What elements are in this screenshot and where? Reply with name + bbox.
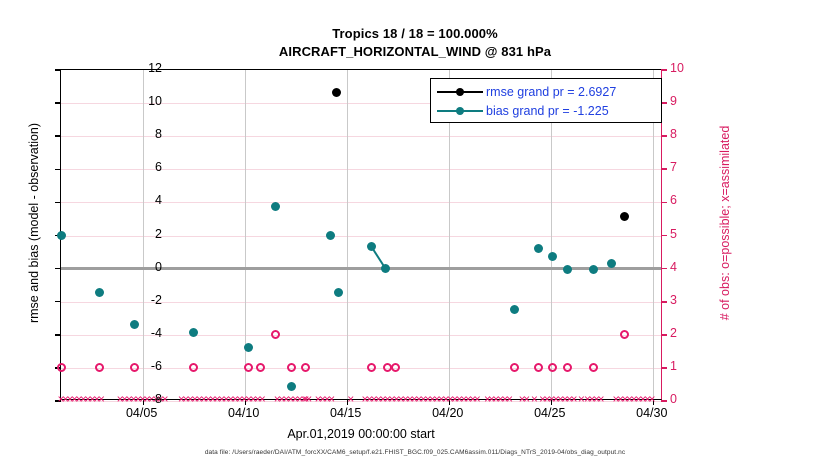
ticklabel-bottom: 04/30 (622, 406, 682, 420)
tick-right (661, 268, 667, 270)
bias-point (534, 244, 543, 253)
ticklabel-right: 4 (670, 260, 704, 274)
bias-point (548, 252, 557, 261)
bias-point (367, 242, 376, 251)
obs-possible-marker (189, 363, 198, 372)
obs-possible-marker (244, 363, 253, 372)
rmse-point (620, 212, 629, 221)
obs-assimilated-marker (327, 397, 336, 406)
bias-point (589, 265, 598, 274)
obs-assimilated-marker (483, 397, 492, 406)
tick-left (55, 69, 61, 71)
rmse-point (332, 88, 341, 97)
x-axis-label: Apr.01,2019 00:00:00 start (0, 427, 722, 441)
ticklabel-right: 10 (670, 61, 704, 75)
obs-possible-marker (57, 363, 66, 372)
tick-left (55, 102, 61, 104)
ticklabel-right: 0 (670, 392, 704, 406)
ticklabel-bottom: 04/10 (214, 406, 274, 420)
obs-possible-marker (367, 363, 376, 372)
data-file-footer: data file: /Users/raeder/DAI/ATM_forcXX/… (0, 449, 830, 456)
ticklabel-left: -8 (120, 392, 162, 406)
chart-legend: rmse grand pr = 2.6927 bias grand pr = -… (430, 78, 662, 123)
tick-left (55, 334, 61, 336)
bias-point (510, 305, 519, 314)
obs-possible-marker (589, 363, 598, 372)
ticklabel-left: -4 (120, 326, 162, 340)
y-axis-right-label: # of obs: o=possible; x=assimilated (718, 53, 732, 393)
ticklabel-left: -6 (120, 359, 162, 373)
tick-left (55, 135, 61, 137)
chart-title-line1: Tropics 18 / 18 = 100.000% (0, 26, 830, 41)
obs-assimilated-marker (647, 397, 656, 406)
obs-assimilated-marker (346, 397, 355, 406)
bias-point (287, 382, 296, 391)
bias-point (95, 288, 104, 297)
ticklabel-right: 6 (670, 193, 704, 207)
ticklabel-left: 4 (120, 193, 162, 207)
bias-point (189, 328, 198, 337)
gridline-v (347, 70, 348, 399)
obs-assimilated-marker (530, 397, 539, 406)
legend-swatch-bias (437, 105, 483, 117)
obs-possible-marker (563, 363, 572, 372)
legend-label-bias: bias grand pr = -1.225 (483, 104, 609, 118)
ticklabel-left: 10 (120, 94, 162, 108)
bias-point (57, 231, 66, 240)
figure-canvas: Tropics 18 / 18 = 100.000% AIRCRAFT_HORI… (0, 0, 830, 470)
tick-left (55, 202, 61, 204)
ticklabel-right: 9 (670, 94, 704, 108)
tick-left (55, 169, 61, 171)
ticklabel-left: 0 (120, 260, 162, 274)
obs-assimilated-marker (473, 397, 482, 406)
obs-assimilated-marker (505, 397, 514, 406)
ticklabel-right: 8 (670, 127, 704, 141)
legend-swatch-rmse (437, 86, 483, 98)
ticklabel-right: 5 (670, 227, 704, 241)
obs-possible-marker (95, 363, 104, 372)
bias-point (563, 265, 572, 274)
obs-possible-marker (256, 363, 265, 372)
legend-label-rmse: rmse grand pr = 2.6927 (483, 85, 616, 99)
obs-possible-marker (534, 363, 543, 372)
obs-possible-marker (510, 363, 519, 372)
chart-title-line2: AIRCRAFT_HORIZONTAL_WIND @ 831 hPa (0, 44, 830, 59)
tick-right (661, 135, 667, 137)
obs-possible-marker (620, 330, 629, 339)
legend-item-rmse[interactable]: rmse grand pr = 2.6927 (437, 82, 655, 101)
tick-right (661, 400, 667, 402)
bias-point (334, 288, 343, 297)
ticklabel-bottom: 04/05 (112, 406, 172, 420)
obs-assimilated-marker (301, 397, 310, 406)
ticklabel-bottom: 04/20 (418, 406, 478, 420)
tick-right (661, 301, 667, 303)
obs-possible-marker (287, 363, 296, 372)
obs-possible-marker (271, 330, 280, 339)
tick-right (661, 367, 667, 369)
ticklabel-left: 8 (120, 127, 162, 141)
bias-point (326, 231, 335, 240)
tick-right (661, 69, 667, 71)
bias-point (244, 343, 253, 352)
obs-possible-marker (301, 363, 310, 372)
legend-item-bias[interactable]: bias grand pr = -1.225 (437, 101, 655, 120)
bias-point (381, 264, 390, 273)
ticklabel-left: 6 (120, 160, 162, 174)
obs-possible-marker (391, 363, 400, 372)
ticklabel-left: 12 (120, 61, 162, 75)
tick-right (661, 235, 667, 237)
ticklabel-bottom: 04/25 (520, 406, 580, 420)
ticklabel-right: 7 (670, 160, 704, 174)
obs-assimilated-marker (577, 397, 586, 406)
ticklabel-bottom: 04/15 (316, 406, 376, 420)
tick-left (55, 301, 61, 303)
ticklabel-right: 1 (670, 359, 704, 373)
obs-assimilated-marker (596, 397, 605, 406)
ticklabel-right: 3 (670, 293, 704, 307)
ticklabel-left: 2 (120, 227, 162, 241)
tick-right (661, 202, 667, 204)
tick-right (661, 168, 667, 170)
obs-assimilated-marker (258, 397, 267, 406)
obs-possible-marker (548, 363, 557, 372)
ticklabel-left: -2 (120, 293, 162, 307)
tick-right (661, 334, 667, 336)
y-axis-left-label: rmse and bias (model - observation) (27, 53, 41, 393)
obs-assimilated-marker (97, 397, 106, 406)
ticklabel-right: 2 (670, 326, 704, 340)
bias-point (271, 202, 280, 211)
